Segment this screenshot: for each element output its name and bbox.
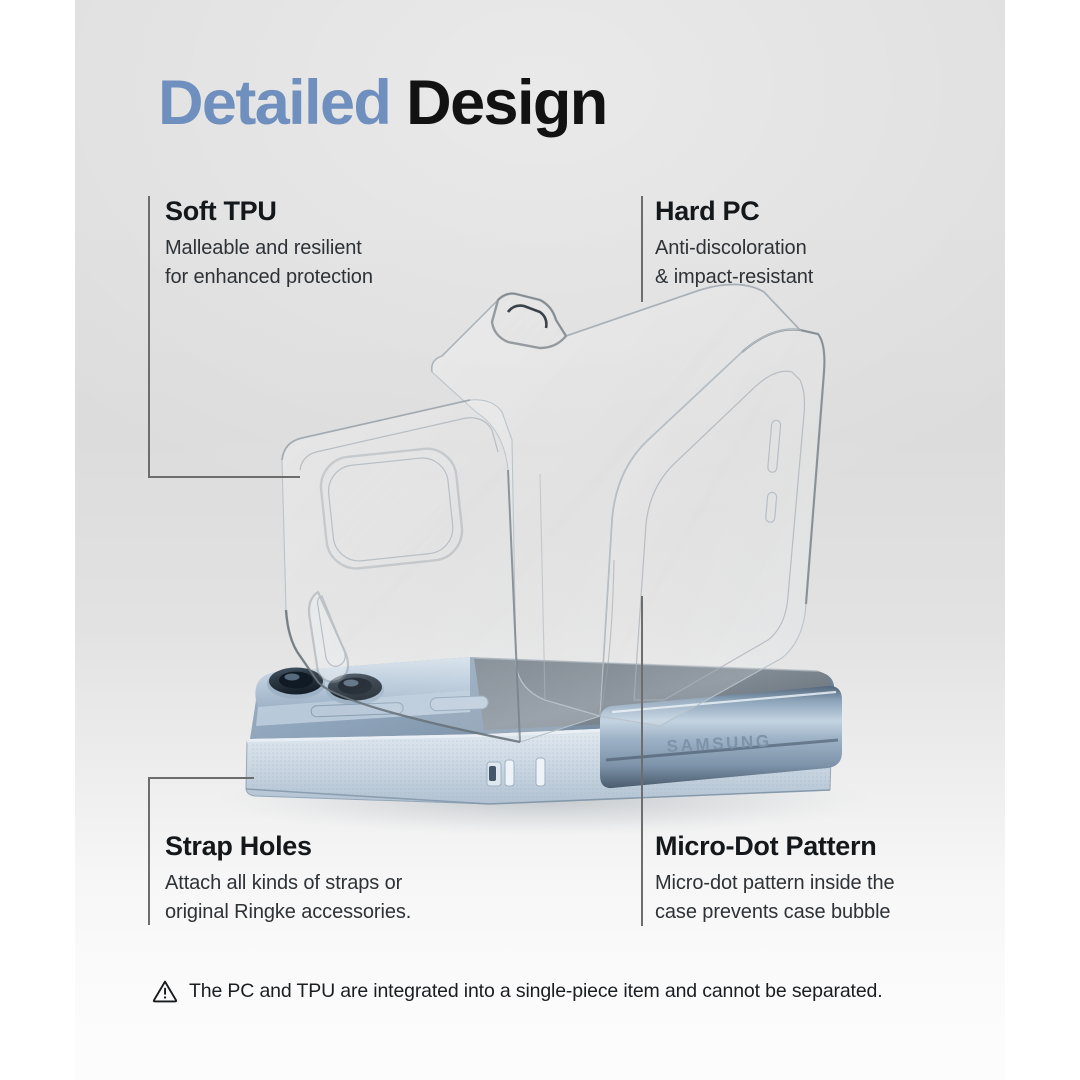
warning-triangle-icon bbox=[152, 979, 178, 1003]
callout-line-soft-tpu-2: for enhanced protection bbox=[165, 264, 373, 292]
footer-note: The PC and TPU are integrated into a sin… bbox=[152, 979, 882, 1003]
callout-line-strap-holes-2: original Ringke accessories. bbox=[165, 899, 411, 927]
callout-title-soft-tpu: Soft TPU bbox=[165, 196, 373, 228]
callout-line-soft-tpu-1: Malleable and resilient bbox=[165, 235, 373, 263]
page-title: Detailed Design bbox=[158, 72, 607, 135]
callout-title-hard-pc: Hard PC bbox=[655, 196, 813, 228]
leader-line-hard-pc bbox=[641, 196, 643, 302]
title-accent: Detailed bbox=[158, 68, 390, 138]
callout-line-hard-pc-1: Anti-discoloration bbox=[655, 235, 813, 263]
callout-title-micro-dot-pattern: Micro-Dot Pattern bbox=[655, 831, 895, 863]
callout-title-strap-holes: Strap Holes bbox=[165, 831, 411, 863]
leader-line-strap-holes-vertical bbox=[148, 777, 150, 925]
product-feature-graphic: SAMSUNG bbox=[0, 0, 1080, 1080]
callout-hard-pc: Hard PC Anti-discoloration & impact-resi… bbox=[655, 196, 813, 292]
leader-line-soft-tpu-vertical bbox=[148, 196, 150, 477]
leader-line-soft-tpu-horizontal bbox=[148, 476, 300, 478]
callout-line-hard-pc-2: & impact-resistant bbox=[655, 264, 813, 292]
callout-line-micro-dot-2: case prevents case bubble bbox=[655, 899, 895, 927]
leader-line-micro-dot bbox=[641, 596, 643, 926]
leader-line-strap-holes-horizontal bbox=[148, 777, 254, 779]
footer-note-text: The PC and TPU are integrated into a sin… bbox=[189, 980, 882, 1003]
callout-soft-tpu: Soft TPU Malleable and resilient for enh… bbox=[165, 196, 373, 292]
callout-line-strap-holes-1: Attach all kinds of straps or bbox=[165, 870, 411, 898]
callout-strap-holes: Strap Holes Attach all kinds of straps o… bbox=[165, 831, 411, 927]
title-rest: Design bbox=[390, 68, 606, 138]
callout-micro-dot-pattern: Micro-Dot Pattern Micro-dot pattern insi… bbox=[655, 831, 895, 927]
callout-line-micro-dot-1: Micro-dot pattern inside the bbox=[655, 870, 895, 898]
